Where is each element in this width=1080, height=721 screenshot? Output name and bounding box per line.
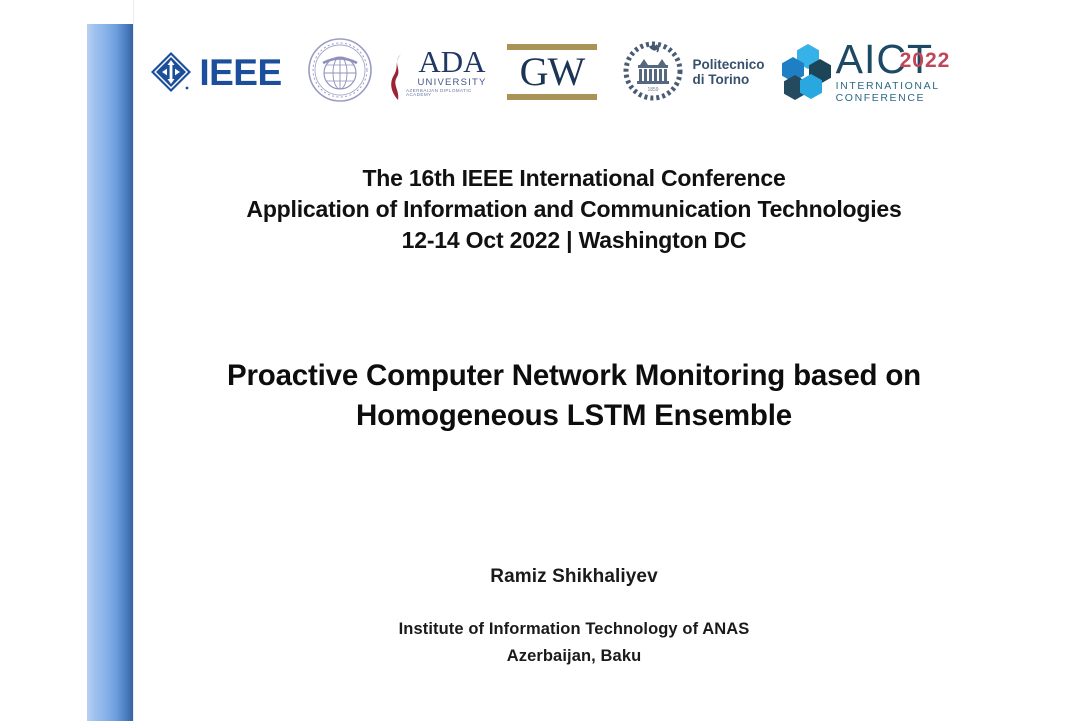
sponsor-logo-strip: IEEE	[140, 36, 1020, 108]
affiliation-line-1: Institute of Information Technology of A…	[134, 616, 1014, 643]
ieee-diamond-icon	[150, 51, 192, 93]
gw-logo-text: GW	[520, 50, 585, 94]
politecnico-di-torino-logo: 1859 Politecnico di Torino	[606, 36, 781, 108]
conference-line-1: The 16th IEEE International Conference	[134, 163, 1014, 194]
ada-flame-icon	[388, 52, 404, 98]
aict-logo: AICT 2022 INTERNATIONAL CONFERENCE	[781, 36, 1016, 108]
affiliation-line-2: Azerbaijan, Baku	[134, 643, 1014, 670]
politecnico-crest-icon: 1859	[622, 39, 684, 106]
ada-university-logo: ADA UNIVERSITY AZERBAIJAN DIPLOMATIC ACA…	[388, 36, 498, 108]
ada-logo-text: ADA	[418, 46, 485, 77]
paper-title-line-1: Proactive Computer Network Monitoring ba…	[134, 356, 1014, 396]
conference-line-2: Application of Information and Communica…	[134, 194, 1014, 225]
aict-logo-subtext: INTERNATIONAL CONFERENCE	[836, 80, 1016, 104]
author-block: Ramiz Shikhaliyev	[134, 566, 1014, 588]
gw-logo: GW	[498, 36, 606, 108]
svg-text:1859: 1859	[648, 87, 659, 93]
aict-logo-year: 2022	[900, 50, 951, 71]
ada-logo-subtext2: AZERBAIJAN DIPLOMATIC ACADEMY	[406, 89, 498, 98]
conference-header: The 16th IEEE International Conference A…	[134, 163, 1014, 255]
author-name: Ramiz Shikhaliyev	[134, 566, 1014, 588]
title-slide: IEEE	[0, 0, 1080, 721]
ada-logo-subtext: UNIVERSITY	[417, 78, 486, 88]
politecnico-line1: Politecnico	[692, 57, 764, 72]
affiliation-block: Institute of Information Technology of A…	[134, 616, 1014, 669]
globe-seal-icon	[307, 37, 373, 108]
paper-title-line-2: Homogeneous LSTM Ensemble	[134, 396, 1014, 436]
aict-hexagon-cluster-icon	[781, 44, 827, 100]
ieee-logo-text: IEEE	[199, 54, 281, 91]
decorative-accent-bar	[87, 24, 133, 721]
ieee-logo: IEEE	[140, 36, 292, 108]
paper-title: Proactive Computer Network Monitoring ba…	[134, 356, 1014, 437]
politecnico-logo-text: Politecnico di Torino	[692, 57, 764, 87]
seal-logo	[292, 36, 388, 108]
aict-logo-text-wrap: AICT 2022	[836, 40, 1016, 79]
politecnico-line2: di Torino	[692, 72, 749, 87]
gw-bottom-rule	[507, 94, 597, 100]
conference-line-3: 12-14 Oct 2022 | Washington DC	[134, 225, 1014, 256]
